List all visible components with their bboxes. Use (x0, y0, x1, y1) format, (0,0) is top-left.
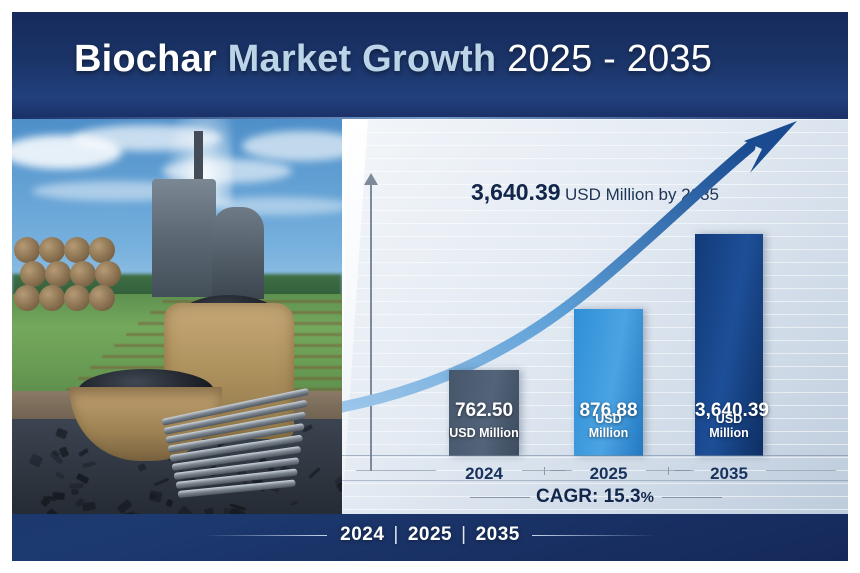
headline-callout: 3,640.39 USD Million by 2035 (342, 179, 848, 206)
title-band: Biochar Market Growth 2025 - 2035 (12, 12, 848, 119)
charcoal-chunk (71, 489, 79, 495)
footer-separator: | (384, 524, 407, 545)
charcoal-chunk (45, 507, 63, 514)
charcoal-chunk (153, 477, 170, 487)
axis-rule (550, 470, 572, 471)
bar-unit-2024: USD Million (449, 426, 519, 440)
y-axis-line (370, 181, 372, 471)
product-photo (12, 119, 342, 514)
charcoal-chunk (307, 466, 321, 479)
charcoal-chunk (28, 453, 43, 468)
footer-separator: | (452, 524, 475, 545)
pyrolysis-condenser (212, 207, 264, 299)
wood-log (64, 237, 90, 263)
x-label-2024: 2024 (449, 464, 519, 484)
axis-rule (766, 470, 836, 471)
title-subject: Market Growth (228, 38, 497, 80)
charcoal-chunk (81, 460, 96, 469)
charcoal-chunk (290, 500, 300, 507)
pyrolysis-reactor (152, 179, 216, 297)
title-year-range: 2025 - 2035 (507, 38, 712, 80)
wood-log (70, 261, 96, 287)
chart-underline (342, 480, 848, 481)
cagr-rule-right (662, 497, 722, 498)
wood-log (14, 285, 40, 311)
wood-log (39, 285, 65, 311)
charcoal-chunk (52, 492, 66, 501)
cagr-label: CAGR: (536, 486, 604, 507)
cagr-percent-symbol: % (641, 489, 654, 506)
headline-value: 3,640.39 (471, 179, 561, 205)
axis-tick (668, 467, 669, 475)
bar-2024: 762.50 USD Million (449, 370, 519, 456)
x-label-2025: 2025 (574, 464, 643, 484)
wood-log-pile (14, 237, 118, 309)
charcoal-chunk (177, 505, 197, 514)
charcoal-chunk (204, 507, 215, 514)
axis-rule (674, 470, 694, 471)
footer-year-strip: 2024|2025|2035 (12, 514, 848, 561)
wood-log (39, 237, 65, 263)
bar-unit-2025: USD Million (574, 412, 643, 440)
page-title: Biochar Market Growth 2025 - 2035 (74, 38, 712, 81)
x-label-2035: 2035 (695, 464, 763, 484)
title-brand: Biochar (74, 38, 217, 80)
bar-2025: 876.88 USD Million (574, 309, 643, 456)
footer-year-2025: 2025 (408, 524, 452, 545)
bar-chart-panel: 3,640.39 USD Million by 2035 762.50 USD … (342, 119, 848, 514)
wood-log (45, 261, 71, 287)
infographic-poster: Biochar Market Growth 2025 - 2035 (12, 12, 848, 561)
wood-log (14, 237, 40, 263)
cagr-row: CAGR: 15.3% (342, 482, 848, 514)
charcoal-chunk (165, 498, 174, 508)
charcoal-chunk (137, 463, 147, 473)
headline-suffix: USD Million by 2035 (565, 185, 719, 204)
footer-year-2024: 2024 (340, 524, 384, 545)
axis-tick (544, 467, 545, 475)
charcoal-chunk (148, 490, 163, 503)
footer-rule-right (532, 535, 657, 536)
bar-value-2024: 762.50 (449, 400, 519, 422)
wood-log (89, 237, 115, 263)
bar-2035: 3,640.39 USD Million (695, 234, 763, 456)
wood-log (89, 285, 115, 311)
charcoal-chunk (55, 471, 66, 480)
footer-year-2035: 2035 (476, 524, 520, 545)
cagr-value: 15.3 (604, 486, 641, 507)
wood-log (95, 261, 121, 287)
wood-log (20, 261, 46, 287)
charcoal-chunk (81, 501, 96, 512)
chart-baseline (342, 455, 848, 456)
footer-years: 2024|2025|2035 (12, 524, 848, 546)
charcoal-chunk (55, 427, 68, 440)
charcoal-chunk (77, 448, 89, 458)
cagr-callout: CAGR: 15.3% (342, 486, 848, 508)
bar-unit-2035: USD Million (695, 412, 763, 440)
axis-rule (356, 470, 436, 471)
wood-log (64, 285, 90, 311)
